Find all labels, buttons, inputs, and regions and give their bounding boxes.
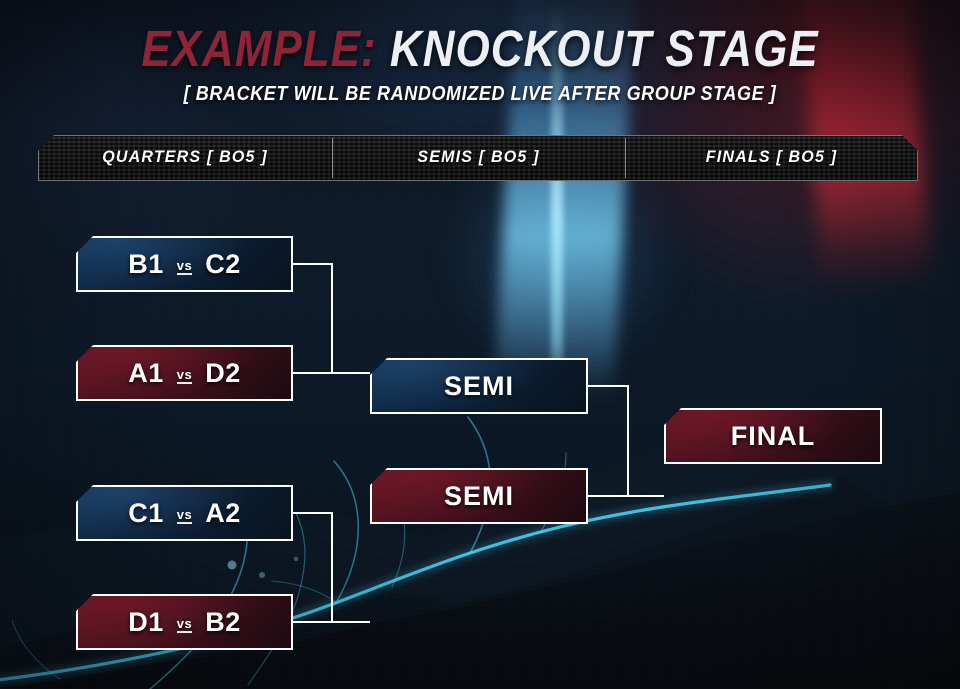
team-b-seed: B2 [205,607,241,638]
semi-label: SEMI [444,481,514,512]
page-subtitle: [ BRACKET WILL BE RANDOMIZED LIVE AFTER … [0,82,960,106]
team-b-seed: A2 [205,498,241,529]
round-header-quarters: QUARTERS [ BO5 ] [38,134,332,183]
match-box-quarter-1[interactable]: B1 vs C2 [76,236,293,292]
title-main: KNOCKOUT STAGE [377,21,819,78]
match-box-quarter-3[interactable]: C1 vs A2 [76,485,293,541]
team-a-seed: B1 [128,249,164,280]
vs-separator: vs [177,508,192,525]
knockout-stage-graphic: EXAMPLE: KNOCKOUT STAGE [ BRACKET WILL B… [0,0,960,689]
semi-label: SEMI [444,371,514,402]
team-a-seed: A1 [128,358,164,389]
match-label: B1 vs C2 [128,249,241,280]
team-b-seed: C2 [205,249,241,280]
page-title: EXAMPLE: KNOCKOUT STAGE [0,22,960,77]
match-box-quarter-4[interactable]: D1 vs B2 [76,594,293,650]
vs-separator: vs [177,617,192,634]
vs-separator: vs [177,259,192,276]
title-block: EXAMPLE: KNOCKOUT STAGE [0,22,960,70]
round-header-semis: SEMIS [ BO5 ] [332,134,625,183]
title-highlight: EXAMPLE: [141,21,376,78]
round-header-bar: QUARTERS [ BO5 ] SEMIS [ BO5 ] FINALS [ … [38,135,918,181]
final-label: FINAL [731,421,815,452]
round-header-finals: FINALS [ BO5 ] [625,134,918,183]
match-label: D1 vs B2 [128,607,241,638]
match-box-semi-1[interactable]: SEMI [370,358,588,414]
match-box-quarter-2[interactable]: A1 vs D2 [76,345,293,401]
match-label: C1 vs A2 [128,498,241,529]
team-b-seed: D2 [205,358,241,389]
match-box-semi-2[interactable]: SEMI [370,468,588,524]
team-a-seed: D1 [128,607,164,638]
vs-separator: vs [177,368,192,385]
match-label: A1 vs D2 [128,358,241,389]
team-a-seed: C1 [128,498,164,529]
match-box-final[interactable]: FINAL [664,408,882,464]
